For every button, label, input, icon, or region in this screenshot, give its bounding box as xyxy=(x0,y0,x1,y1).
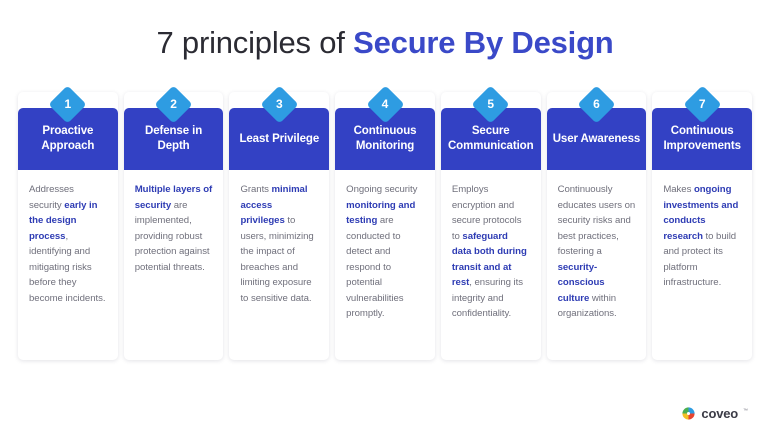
body-text: Makes xyxy=(663,184,694,195)
body-text: Grants xyxy=(240,184,271,195)
principle-title: Secure Communication xyxy=(447,124,535,153)
principle-card[interactable]: 3Least PrivilegeGrants minimal access pr… xyxy=(229,92,329,360)
page-title-accent: Secure By Design xyxy=(353,25,613,60)
principle-title: Continuous Improvements xyxy=(658,124,746,153)
body-text: Ongoing security xyxy=(346,184,417,195)
principle-card[interactable]: 7Continuous ImprovementsMakes ongoing in… xyxy=(652,92,752,360)
principle-title: Continuous Monitoring xyxy=(341,124,429,153)
principle-description: Ongoing security monitoring and testing … xyxy=(346,182,424,322)
principle-card[interactable]: 4Continuous MonitoringOngoing security m… xyxy=(335,92,435,360)
principle-number: 3 xyxy=(262,91,296,118)
body-text: are conducted to detect and respond to p… xyxy=(346,215,403,319)
principle-number: 7 xyxy=(685,91,719,118)
principle-card-body: Makes ongoing investments and conducts r… xyxy=(652,170,752,291)
trademark-symbol: ™ xyxy=(743,408,748,414)
body-text: Continuously educates users on security … xyxy=(558,184,636,257)
principle-description: Employs encryption and secure protocols … xyxy=(452,182,530,322)
principle-title: Proactive Approach xyxy=(24,124,112,153)
principles-card-row: 1Proactive ApproachAddresses security ea… xyxy=(18,92,752,360)
page-header: 7 principles of Secure By Design xyxy=(0,0,770,60)
principle-title: User Awareness xyxy=(553,132,640,147)
principle-number: 1 xyxy=(51,91,85,118)
principle-card-body: Grants minimal access privileges to user… xyxy=(229,170,329,306)
principle-card-body: Addresses security early in the design p… xyxy=(18,170,118,306)
page-title-plain: 7 principles of xyxy=(156,25,353,60)
principle-description: Makes ongoing investments and conducts r… xyxy=(663,182,741,291)
principle-card-body: Employs encryption and secure protocols … xyxy=(441,170,541,322)
principle-card-body: Multiple layers of security are implemen… xyxy=(124,170,224,275)
principle-card[interactable]: 5Secure CommunicationEmploys encryption … xyxy=(441,92,541,360)
principle-title: Defense in Depth xyxy=(130,124,218,153)
page-title: 7 principles of Secure By Design xyxy=(0,26,770,60)
body-text: to users, minimizing the impact of breac… xyxy=(240,215,313,304)
principle-card[interactable]: 1Proactive ApproachAddresses security ea… xyxy=(18,92,118,360)
coveo-logo: coveo ™ xyxy=(681,406,748,421)
coveo-wordmark: coveo xyxy=(701,406,738,421)
principle-card[interactable]: 6User AwarenessContinuously educates use… xyxy=(547,92,647,360)
principle-description: Grants minimal access privileges to user… xyxy=(240,182,318,306)
principle-number: 2 xyxy=(157,91,191,118)
principle-description: Addresses security early in the design p… xyxy=(29,182,107,306)
principle-description: Multiple layers of security are implemen… xyxy=(135,182,213,275)
principle-number: 6 xyxy=(579,91,613,118)
principle-title: Least Privilege xyxy=(239,132,319,147)
coveo-logo-icon xyxy=(681,406,696,421)
principle-number: 5 xyxy=(474,91,508,118)
principle-number: 4 xyxy=(368,91,402,118)
principle-card-body: Ongoing security monitoring and testing … xyxy=(335,170,435,322)
principle-card[interactable]: 2Defense in DepthMultiple layers of secu… xyxy=(124,92,224,360)
principle-description: Continuously educates users on security … xyxy=(558,182,636,322)
principle-card-body: Continuously educates users on security … xyxy=(547,170,647,322)
